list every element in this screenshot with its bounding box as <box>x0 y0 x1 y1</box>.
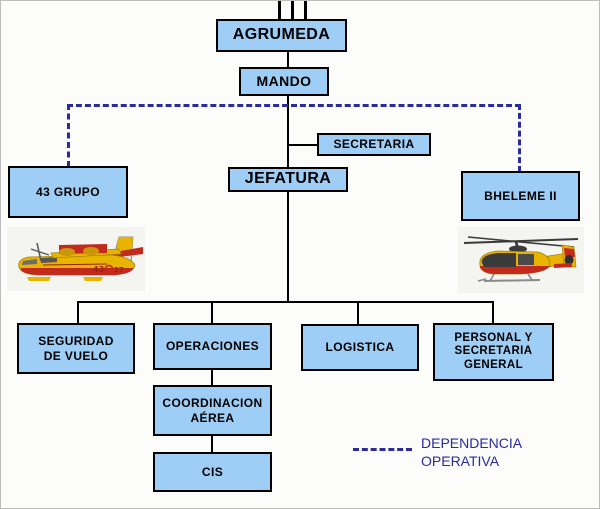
node-agrumeda[interactable]: AGRUMEDA <box>216 19 347 52</box>
node-seguridad-de-vuelo[interactable]: SEGURIDAD DE VUELO <box>17 323 135 374</box>
top-tick-mark-1 <box>278 1 281 19</box>
node-personal-y-secretaria-general[interactable]: PERSONAL Y SECRETARIA GENERAL <box>433 323 554 381</box>
org-chart-canvas: AGRUMEDA MANDO SECRETARIA JEFATURA 43 GR… <box>0 0 600 509</box>
node-bheleme-ii-label: BHELEME II <box>466 189 575 203</box>
node-operaciones-label: OPERACIONES <box>158 339 267 353</box>
node-mando-label: MANDO <box>244 73 324 90</box>
node-jefatura-label: JEFATURA <box>233 170 343 189</box>
node-coordinacion-aerea[interactable]: COORDINACION AÉREA <box>153 385 272 436</box>
connector-operaciones-coordinacion <box>211 370 213 385</box>
svg-text:43: 43 <box>93 265 104 274</box>
connector-bus-logistica <box>357 301 359 324</box>
top-tick-mark-3 <box>304 1 307 19</box>
node-seguridad-de-vuelo-label: SEGURIDAD DE VUELO <box>22 334 130 362</box>
connector-bus-personal <box>492 301 494 324</box>
dashed-link-horizontal <box>67 104 521 107</box>
node-cis[interactable]: CIS <box>153 452 272 492</box>
connector-jefatura-secretaria <box>287 144 317 146</box>
connector-bus-seguridad <box>77 301 79 324</box>
connector-horizontal-bus <box>77 301 494 303</box>
connector-jefatura-bus <box>287 191 289 302</box>
node-secretaria-label: SECRETARIA <box>322 137 426 151</box>
top-tick-mark-2 <box>291 1 294 19</box>
node-operaciones[interactable]: OPERACIONES <box>153 323 272 370</box>
connector-coordinacion-cis <box>211 436 213 452</box>
legend-label: DEPENDENCIA OPERATIVA <box>421 435 522 470</box>
connector-bus-operaciones <box>211 301 213 324</box>
node-logistica-label: LOGISTICA <box>306 340 414 354</box>
legend-dashed-line-sample <box>353 448 412 451</box>
node-mando[interactable]: MANDO <box>239 67 329 96</box>
dashed-link-to-43-grupo <box>67 104 70 167</box>
node-secretaria[interactable]: SECRETARIA <box>317 133 431 156</box>
dashed-link-to-bheleme <box>518 104 521 172</box>
node-43-grupo[interactable]: 43 GRUPO <box>8 166 128 218</box>
node-agrumeda-label: AGRUMEDA <box>221 26 342 45</box>
connector-agrumeda-mando <box>287 51 289 67</box>
node-personal-y-secretaria-general-label: PERSONAL Y SECRETARIA GENERAL <box>438 332 549 373</box>
node-coordinacion-aerea-label: COORDINACION AÉREA <box>158 396 267 424</box>
helicopter-photo <box>458 227 584 293</box>
aircraft-photo: 43 27 <box>7 227 145 291</box>
svg-text:27: 27 <box>114 266 124 274</box>
node-logistica[interactable]: LOGISTICA <box>301 324 419 371</box>
node-bheleme-ii[interactable]: BHELEME II <box>461 171 580 221</box>
node-jefatura[interactable]: JEFATURA <box>228 167 348 192</box>
node-43-grupo-label: 43 GRUPO <box>13 185 123 199</box>
node-cis-label: CIS <box>158 465 267 479</box>
